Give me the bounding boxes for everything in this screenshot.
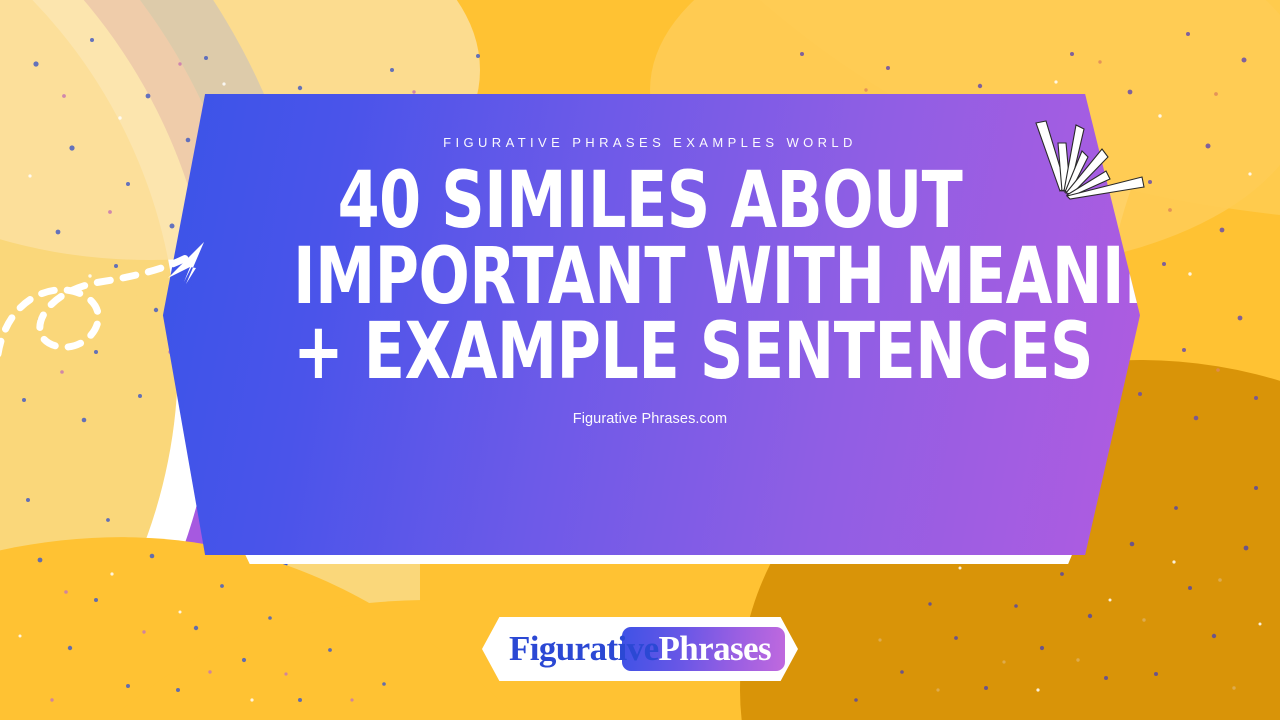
logo-text: FigurativePhrases — [482, 617, 798, 681]
headline-line-2: IMPORTANT WITH MEANING — [293, 240, 1007, 316]
card-eyebrow-text: FIGURATIVE PHRASES EXAMPLES WORLD — [443, 135, 857, 150]
dashed-loop-arrow-icon — [0, 234, 270, 364]
poster-canvas: FIGURATIVE PHRASES EXAMPLES WORLD 40 SIM… — [0, 0, 1280, 720]
logo-word-figurative: Figurative — [509, 629, 659, 669]
headline-line-1: 40 SIMILES ABOUT — [293, 164, 1007, 240]
brand-logo[interactable]: FigurativePhrases — [482, 617, 798, 681]
headline-line-3: + EXAMPLE SENTENCES — [293, 315, 1007, 391]
sparkle-burst-icon — [1020, 99, 1170, 219]
site-url-text: Figurative Phrases.com — [573, 411, 728, 427]
card-headline: 40 SIMILES ABOUT IMPORTANT WITH MEANING … — [293, 164, 1007, 391]
title-card: FIGURATIVE PHRASES EXAMPLES WORLD 40 SIM… — [160, 94, 1140, 555]
logo-word-phrases: Phrases — [659, 629, 771, 669]
title-card-wrapper: FIGURATIVE PHRASES EXAMPLES WORLD 40 SIM… — [160, 94, 1140, 564]
